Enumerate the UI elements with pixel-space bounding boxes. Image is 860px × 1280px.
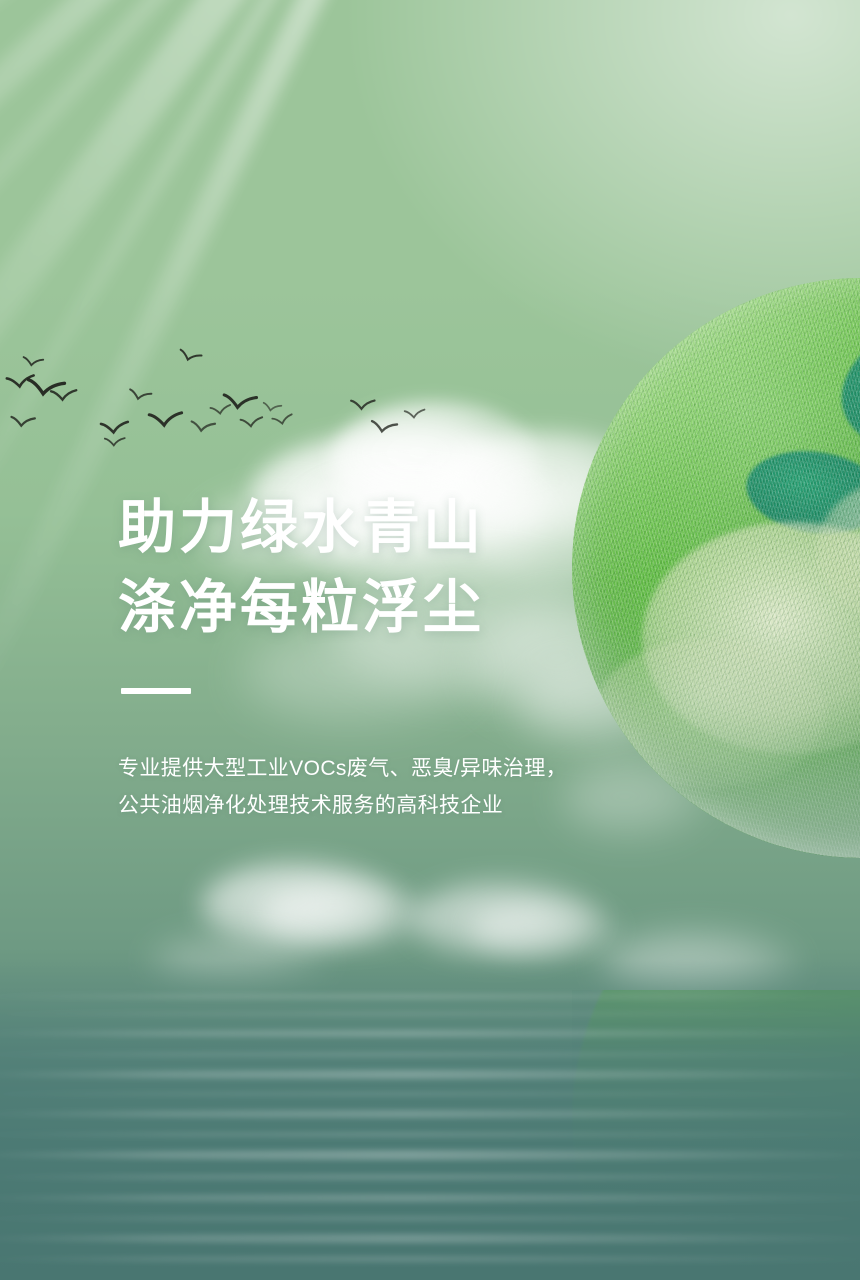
bird-icon [99,418,131,438]
light-ray [0,0,499,377]
cloud [200,860,400,950]
light-ray [0,0,502,555]
bird-icon [239,414,265,431]
water-ripple [0,1150,860,1160]
subtitle-line-2: 公共油烟净化处理技术服务的高科技企业 [118,787,678,824]
bird-icon [127,387,153,405]
cloud [470,900,620,960]
headline-line-1: 助力绿水青山 [118,488,678,568]
continent-shape [741,443,860,543]
bird-icon [25,375,67,404]
bird-icon [21,355,44,370]
globe-reflection-body [572,990,860,1280]
water-ripple [0,994,860,999]
water-ripple [0,1174,860,1180]
terrain-patch [816,475,860,626]
water-ripple [0,1194,860,1202]
light-ray [0,0,505,483]
water-ripple [0,1092,860,1096]
cloud [410,880,600,960]
bird-icon [209,402,233,419]
banner-content: 助力绿水青山 涤净每粒浮尘 专业提供大型工业VOCs废气、恶臭/异味治理， 公共… [118,488,678,824]
cloud [260,880,430,950]
bird-icon [271,412,295,430]
bird-icon [221,391,258,415]
subtitle-line-1: 专业提供大型工业VOCs废气、恶臭/异味治理， [118,750,678,787]
headline-line-2: 涤净每粒浮尘 [118,568,678,648]
divider-rule [121,688,191,694]
bird-icon [104,435,127,449]
light-ray [0,0,499,60]
water-ripple [0,1070,860,1079]
water-ripple [0,1234,860,1243]
globe-reflection [572,990,860,1280]
water-ripple [0,1132,860,1137]
bird-icon [369,419,399,438]
water-ripple [0,1110,860,1118]
eco-promo-banner: 助力绿水青山 涤净每粒浮尘 专业提供大型工业VOCs废气、恶臭/异味治理， 公共… [0,0,860,1280]
water-ripple [0,1216,860,1221]
cloud [600,930,800,1000]
bird-icon [177,347,204,366]
bird-icon [5,372,37,393]
light-ray [0,0,499,175]
reflection-fade [572,990,860,1280]
cloud [150,935,330,985]
water-ripple [0,1256,860,1262]
bird-icon [403,407,426,422]
bird-icon [190,419,217,436]
water-ripple [0,1012,860,1016]
water-ripple [0,1052,860,1057]
water-surface [0,960,860,1280]
bird-icon [147,408,185,432]
light-ray [0,0,504,297]
water-ripple [0,1030,860,1037]
bird-icon [10,415,37,431]
bird-icon [350,398,377,414]
water-ripples [0,960,860,1280]
continent-shape [825,278,860,482]
bird-icon [261,401,282,416]
bird-icon [49,387,78,405]
